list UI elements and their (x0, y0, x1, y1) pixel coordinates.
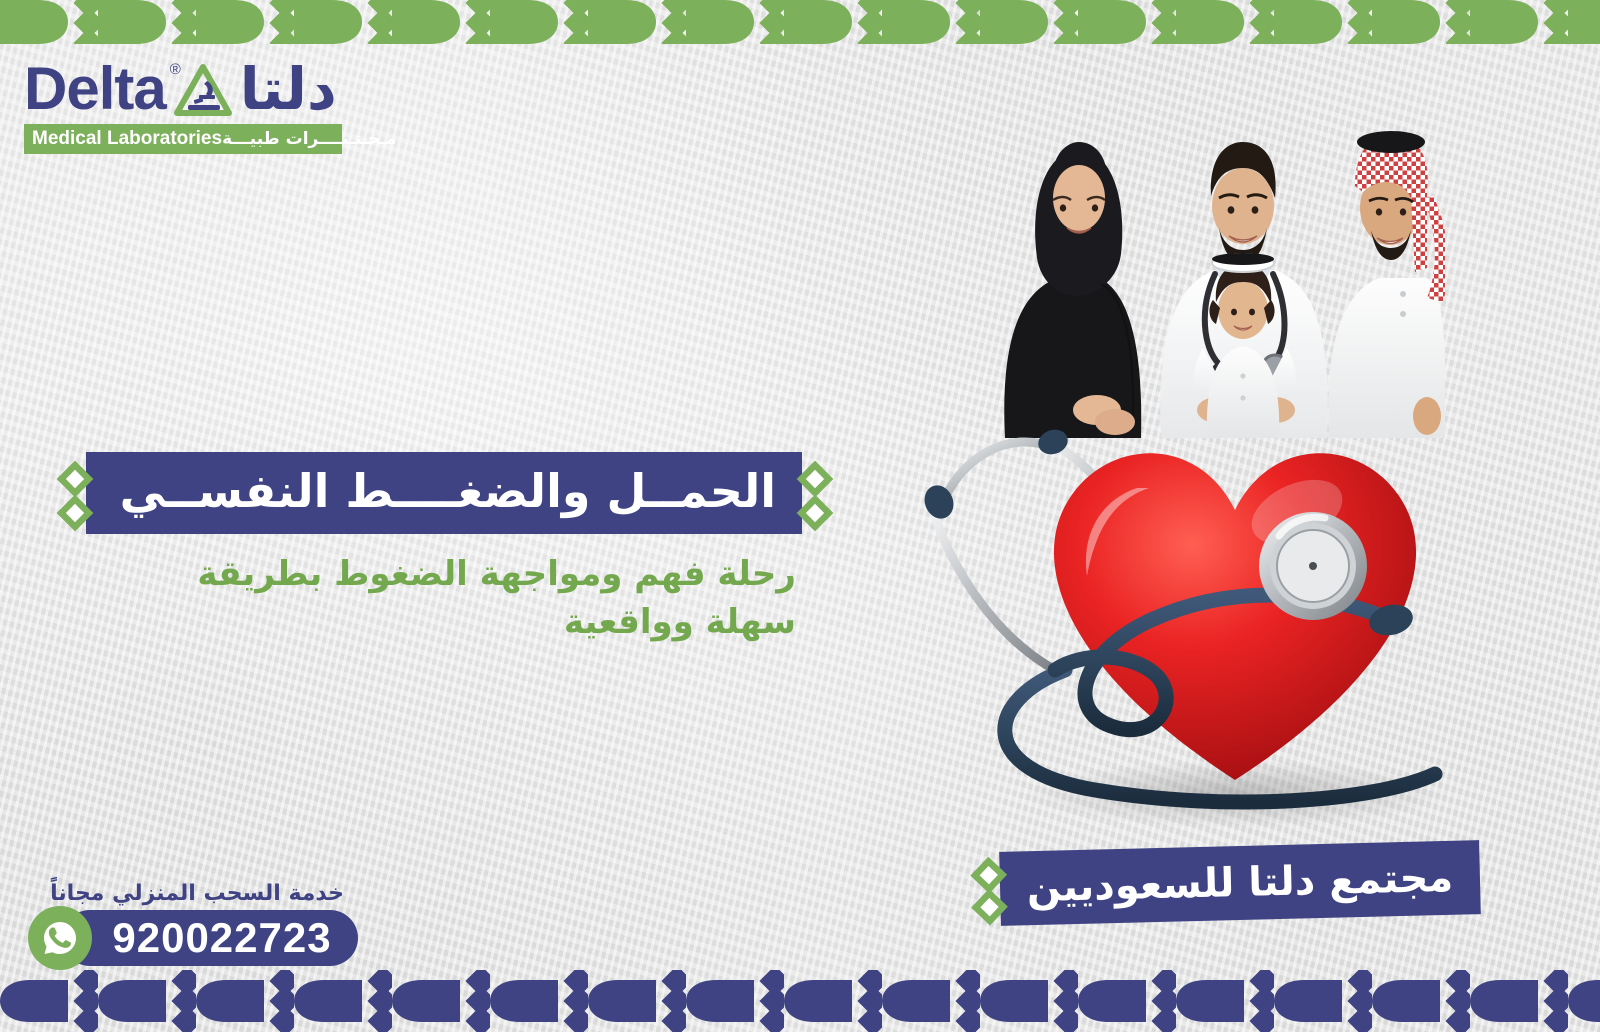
registered-trademark-icon: ® (170, 61, 181, 78)
brand-logo[interactable]: Delta ® دلتا Medical Laboratories مـخـتـ… (24, 58, 344, 154)
logo-tagline-en: Medical Laboratories (32, 128, 222, 150)
contact-block[interactable]: خدمة السحب المنزلي مجاناً 920022723 (28, 881, 358, 966)
top-decorative-border (0, 0, 1600, 44)
headline-block: الحمــل والضغــــط النفســي رحلة فهم ومو… (86, 452, 802, 646)
page-title: الحمــل والضغــــط النفســي (120, 465, 776, 518)
logo-tagline-bar: Medical Laboratories مـخـتـبــــرات طبيـ… (24, 124, 342, 154)
headline-subtitle-line1: رحلة فهم ومواجهة الضغوط بطريقة (86, 552, 802, 598)
community-banner-text: مجتمع دلتا للسعوديين (1026, 858, 1453, 908)
bottom-border-pattern-icon (0, 970, 1600, 1032)
logo-wordmark-row: Delta ® دلتا (24, 58, 344, 120)
phone-number[interactable]: 920022723 (112, 917, 331, 959)
poster-root: Delta ® دلتا Medical Laboratories مـخـتـ… (0, 0, 1600, 1032)
logo-text-ar: دلتا (240, 60, 337, 118)
community-banner: مجتمع دلتا للسعوديين (1000, 846, 1480, 920)
logo-tagline-ar: مـخـتـبــــرات طبيـــة (222, 129, 396, 149)
phone-number-pill[interactable]: 920022723 (62, 910, 358, 966)
top-border-pattern-icon (0, 0, 1600, 44)
delta-triangle-microscope-icon: ® (172, 59, 234, 119)
headline-left-diamond-decor-icon (62, 452, 88, 534)
headline-subtitle-line2: سهلة وواقعية (86, 600, 802, 646)
community-left-diamond-decor-icon (975, 852, 1003, 927)
headline-bar: الحمــل والضغــــط النفســي (86, 452, 802, 534)
red-heart-with-stethoscope (905, 370, 1525, 840)
community-banner-bar: مجتمع دلتا للسعوديين (999, 840, 1481, 926)
bottom-decorative-border (0, 970, 1600, 1032)
home-draw-service-note: خدمة السحب المنزلي مجاناً (28, 881, 358, 906)
whatsapp-icon[interactable] (28, 906, 92, 970)
logo-text-en: Delta (24, 59, 166, 119)
headline-right-diamond-decor-icon (802, 452, 828, 534)
